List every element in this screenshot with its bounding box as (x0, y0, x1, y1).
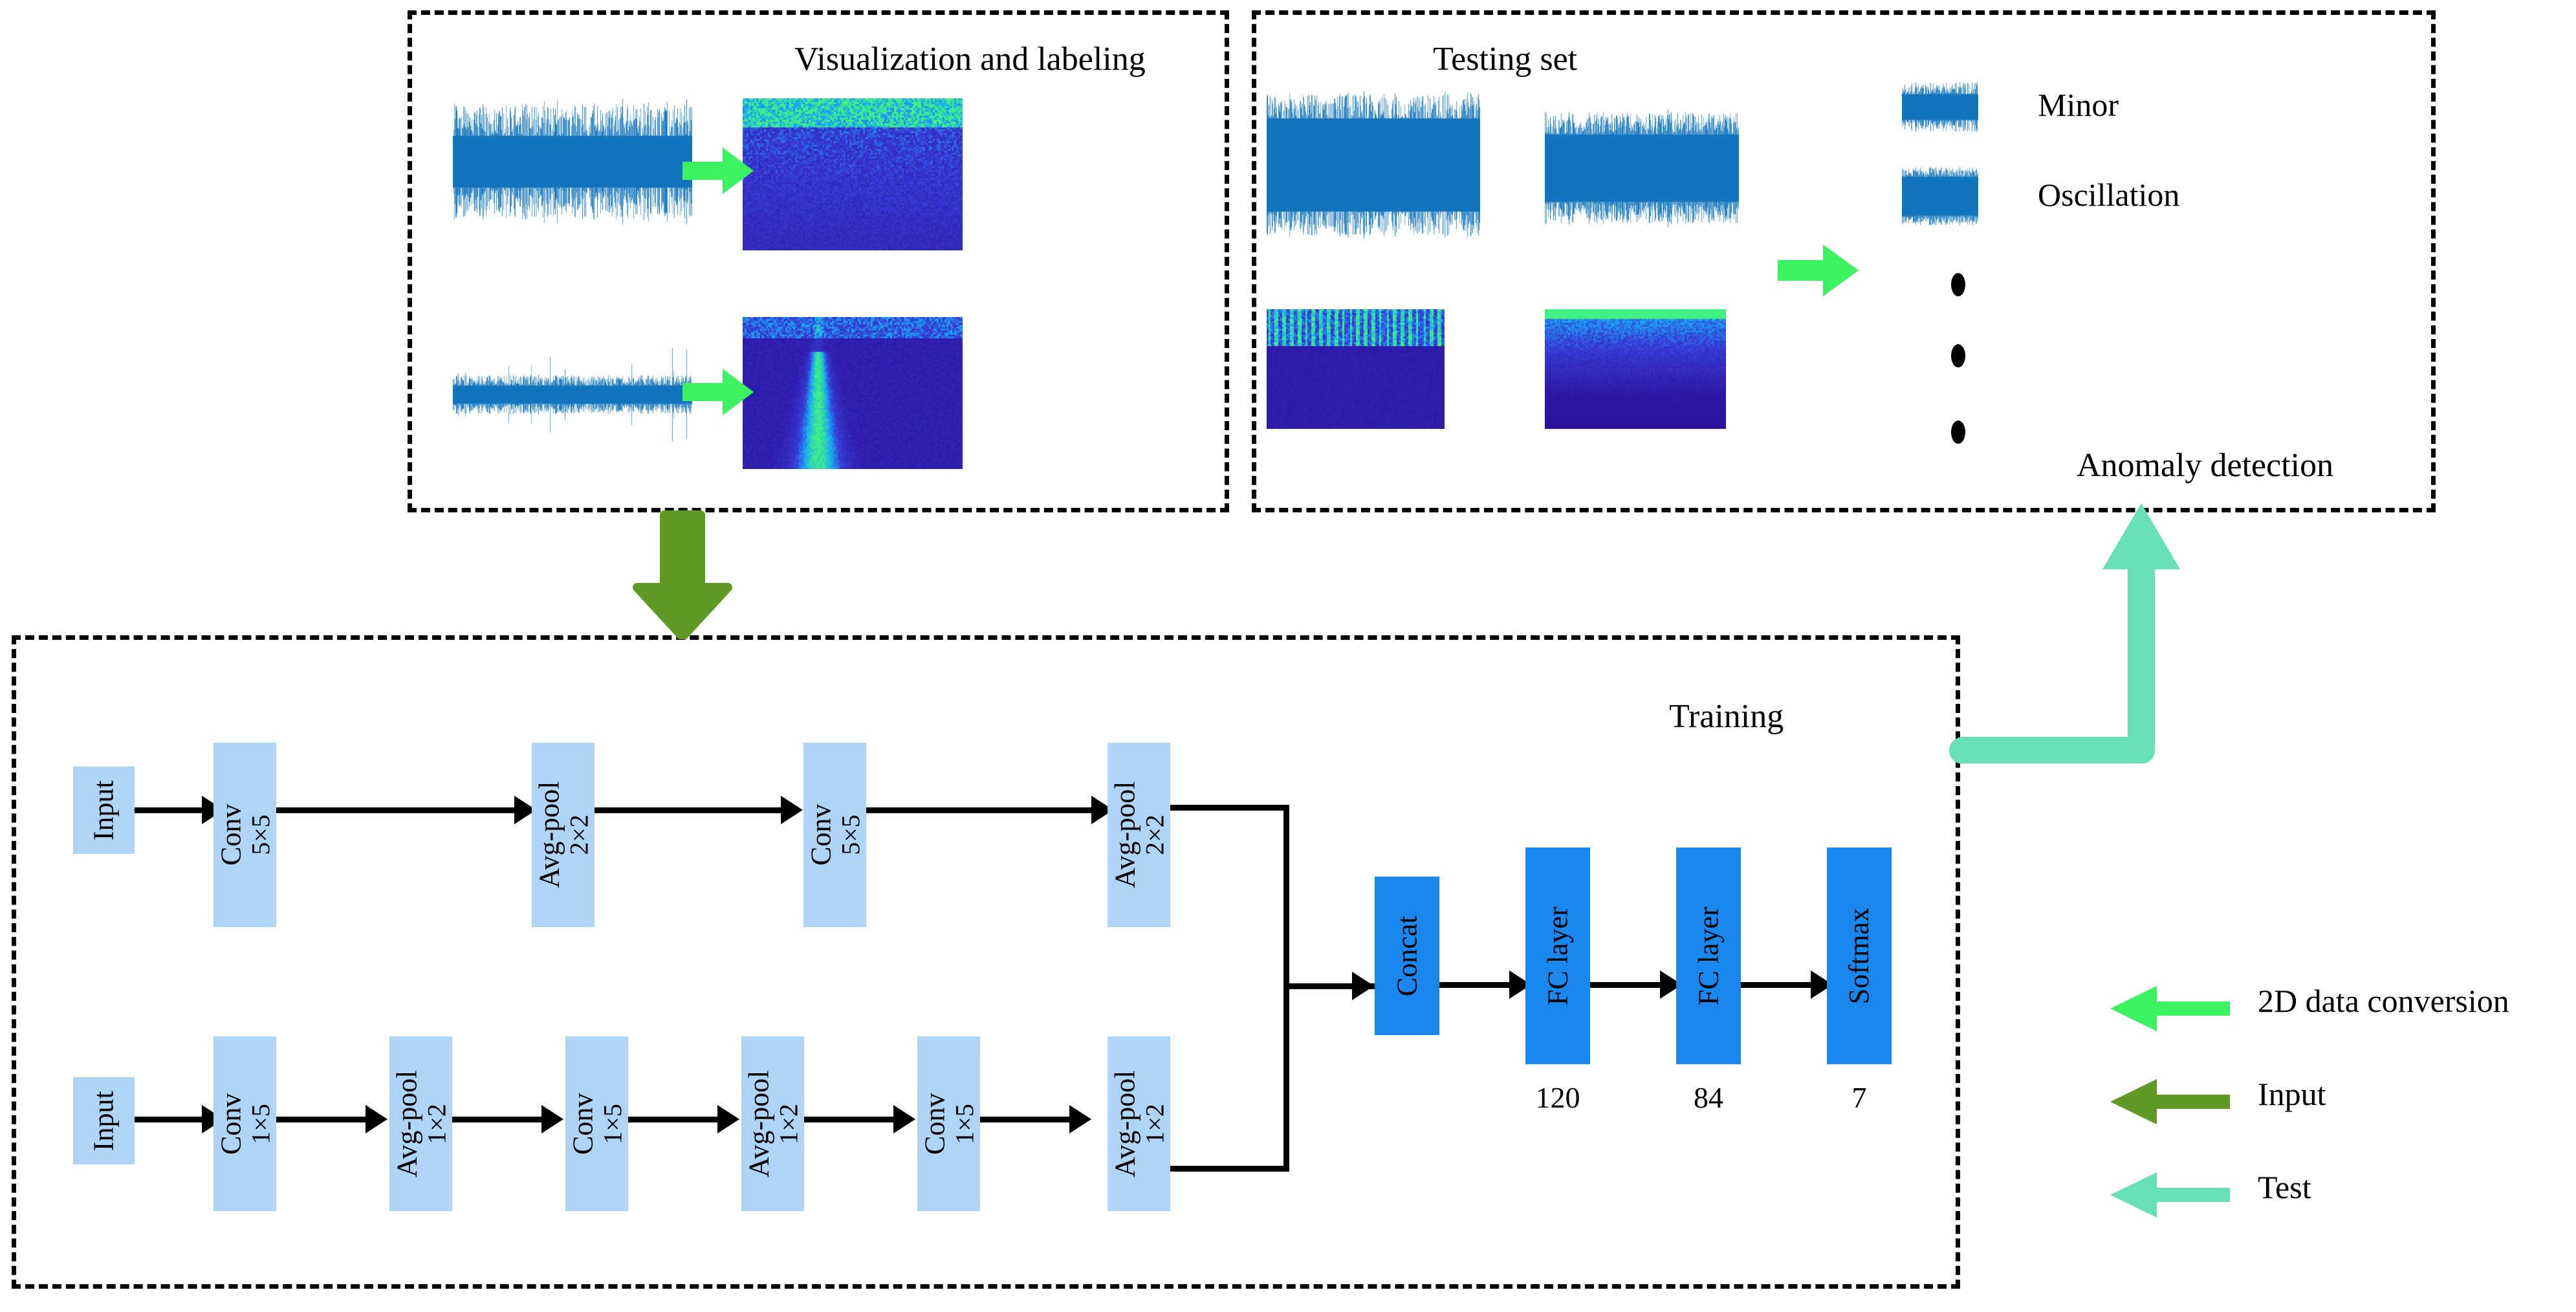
block-label: Avg-pool 2×2 (534, 782, 593, 888)
block-branch2d-conv2[interactable]: Conv 5×5 (803, 743, 866, 927)
ellipsis-dot (1951, 273, 1965, 296)
fc-84-units: 84 (1676, 1080, 1741, 1115)
block-branch2d-pool2[interactable]: Avg-pool 2×2 (1108, 743, 1170, 927)
testing-signal-noise-dense (1267, 91, 1480, 239)
block-branch1d-input[interactable]: Input (73, 1077, 135, 1164)
edge-1d-4 (804, 1117, 898, 1122)
2d-conversion-arrow-row-1 (682, 148, 754, 197)
block-softmax[interactable]: Softmax (1827, 847, 1892, 1064)
block-branch2d-input[interactable]: Input (73, 767, 135, 854)
legend-arrow-label-2d-conversion: 2D data conversion (2258, 982, 2509, 1020)
block-fc-84[interactable]: FC layer (1676, 847, 1741, 1064)
training-panel (12, 635, 1960, 1289)
arrowhead-concat (1352, 972, 1374, 1000)
merge-line-top (1170, 805, 1283, 811)
edge-1d-2 (452, 1117, 546, 1122)
edge-head-0 (1439, 982, 1514, 988)
legend-arrow-input (2110, 1079, 2230, 1128)
block-label: Input (89, 1091, 120, 1151)
ellipsis-dot (1951, 344, 1965, 367)
arrowhead-1d-3 (717, 1105, 739, 1133)
testing-panel-title: Testing set (1433, 40, 1577, 78)
input-flow-arrow (631, 510, 734, 642)
edge-1d-0 (135, 1117, 206, 1122)
arrowhead-2d-2 (781, 796, 803, 824)
2d-conversion-arrow-testing (1778, 245, 1859, 300)
block-branch1d-pool2[interactable]: Avg-pool 1×2 (741, 1036, 804, 1211)
block-branch1d-pool3[interactable]: Avg-pool 1×2 (1108, 1036, 1170, 1211)
legend-arrow-label-test: Test (2258, 1168, 2311, 1206)
edge-head-2 (1741, 982, 1815, 988)
block-branch1d-conv3[interactable]: Conv 1×5 (917, 1036, 980, 1211)
merge-line-bottom (1170, 1166, 1283, 1172)
block-branch2d-conv1[interactable]: Conv 5×5 (213, 743, 276, 927)
block-concat[interactable]: Concat (1375, 877, 1439, 1035)
edge-1d-5 (980, 1117, 1074, 1122)
arrowhead-1d-4 (893, 1105, 915, 1133)
block-label: Conv 5×5 (805, 804, 864, 866)
edge-2d-2 (595, 807, 785, 813)
edge-2d-0 (135, 807, 206, 813)
training-panel-title: Training (1669, 697, 1784, 736)
edge-1d-3 (628, 1117, 722, 1122)
block-label: Avg-pool 1×2 (1109, 1070, 1168, 1177)
test-flow-arrow (1947, 492, 2180, 767)
arrowhead-1d-1 (366, 1105, 387, 1133)
spectrogram-broadband (743, 98, 963, 250)
legend-arrow-label-input: Input (2258, 1075, 2326, 1113)
block-label: Avg-pool 2×2 (1109, 782, 1168, 888)
block-label: Concat (1392, 915, 1423, 996)
legend-swatch-minor (1902, 76, 1978, 138)
legend-label-oscillation: Oscillation (2038, 176, 2179, 213)
legend-label-minor: Minor (2038, 86, 2119, 124)
block-label: Softmax (1844, 908, 1875, 1004)
block-label: Conv 1×5 (919, 1093, 978, 1154)
block-branch1d-pool1[interactable]: Avg-pool 1×2 (389, 1036, 452, 1211)
block-branch1d-conv1[interactable]: Conv 1×5 (213, 1036, 276, 1211)
signal-thumbnail-noise-spike (453, 336, 692, 453)
legend-swatch-oscillation (1902, 166, 1978, 227)
block-label: FC layer (1542, 906, 1573, 1005)
block-label: FC layer (1693, 906, 1724, 1005)
softmax-units: 7 (1827, 1080, 1892, 1115)
block-fc-120[interactable]: FC layer (1525, 847, 1590, 1064)
testing-signal-noise-banded (1545, 104, 1739, 233)
block-label: Conv 1×5 (215, 1093, 274, 1154)
block-branch2d-pool1[interactable]: Avg-pool 2×2 (532, 743, 595, 927)
spectrogram-impulse (743, 317, 963, 469)
testing-spectrogram-diffuse (1545, 309, 1726, 429)
edge-head-1 (1590, 982, 1665, 988)
anomaly-detection-label: Anomaly detection (2077, 446, 2333, 485)
legend-arrow-test (2110, 1172, 2230, 1221)
legend-arrow-2d-conversion (2110, 986, 2230, 1034)
2d-conversion-arrow-row-2 (682, 369, 754, 419)
edge-1d-1 (276, 1117, 370, 1122)
block-branch1d-conv2[interactable]: Conv 1×5 (565, 1036, 628, 1211)
block-label: Conv 1×5 (567, 1093, 626, 1154)
testing-spectrogram-striped (1267, 309, 1445, 429)
arrowhead-1d-5 (1069, 1105, 1091, 1133)
signal-thumbnail-noise-wide (453, 97, 692, 226)
block-label: Conv 5×5 (215, 804, 274, 866)
fc-120-units: 120 (1525, 1080, 1590, 1115)
block-label: Avg-pool 1×2 (391, 1070, 450, 1177)
edge-2d-1 (276, 807, 519, 813)
block-label: Avg-pool 1×2 (743, 1070, 802, 1177)
visualization-panel-title: Visualization and labeling (794, 40, 1146, 78)
edge-2d-3 (866, 807, 1096, 813)
ellipsis-dot (1951, 421, 1965, 444)
block-label: Input (89, 780, 120, 840)
arrowhead-1d-2 (541, 1105, 563, 1133)
